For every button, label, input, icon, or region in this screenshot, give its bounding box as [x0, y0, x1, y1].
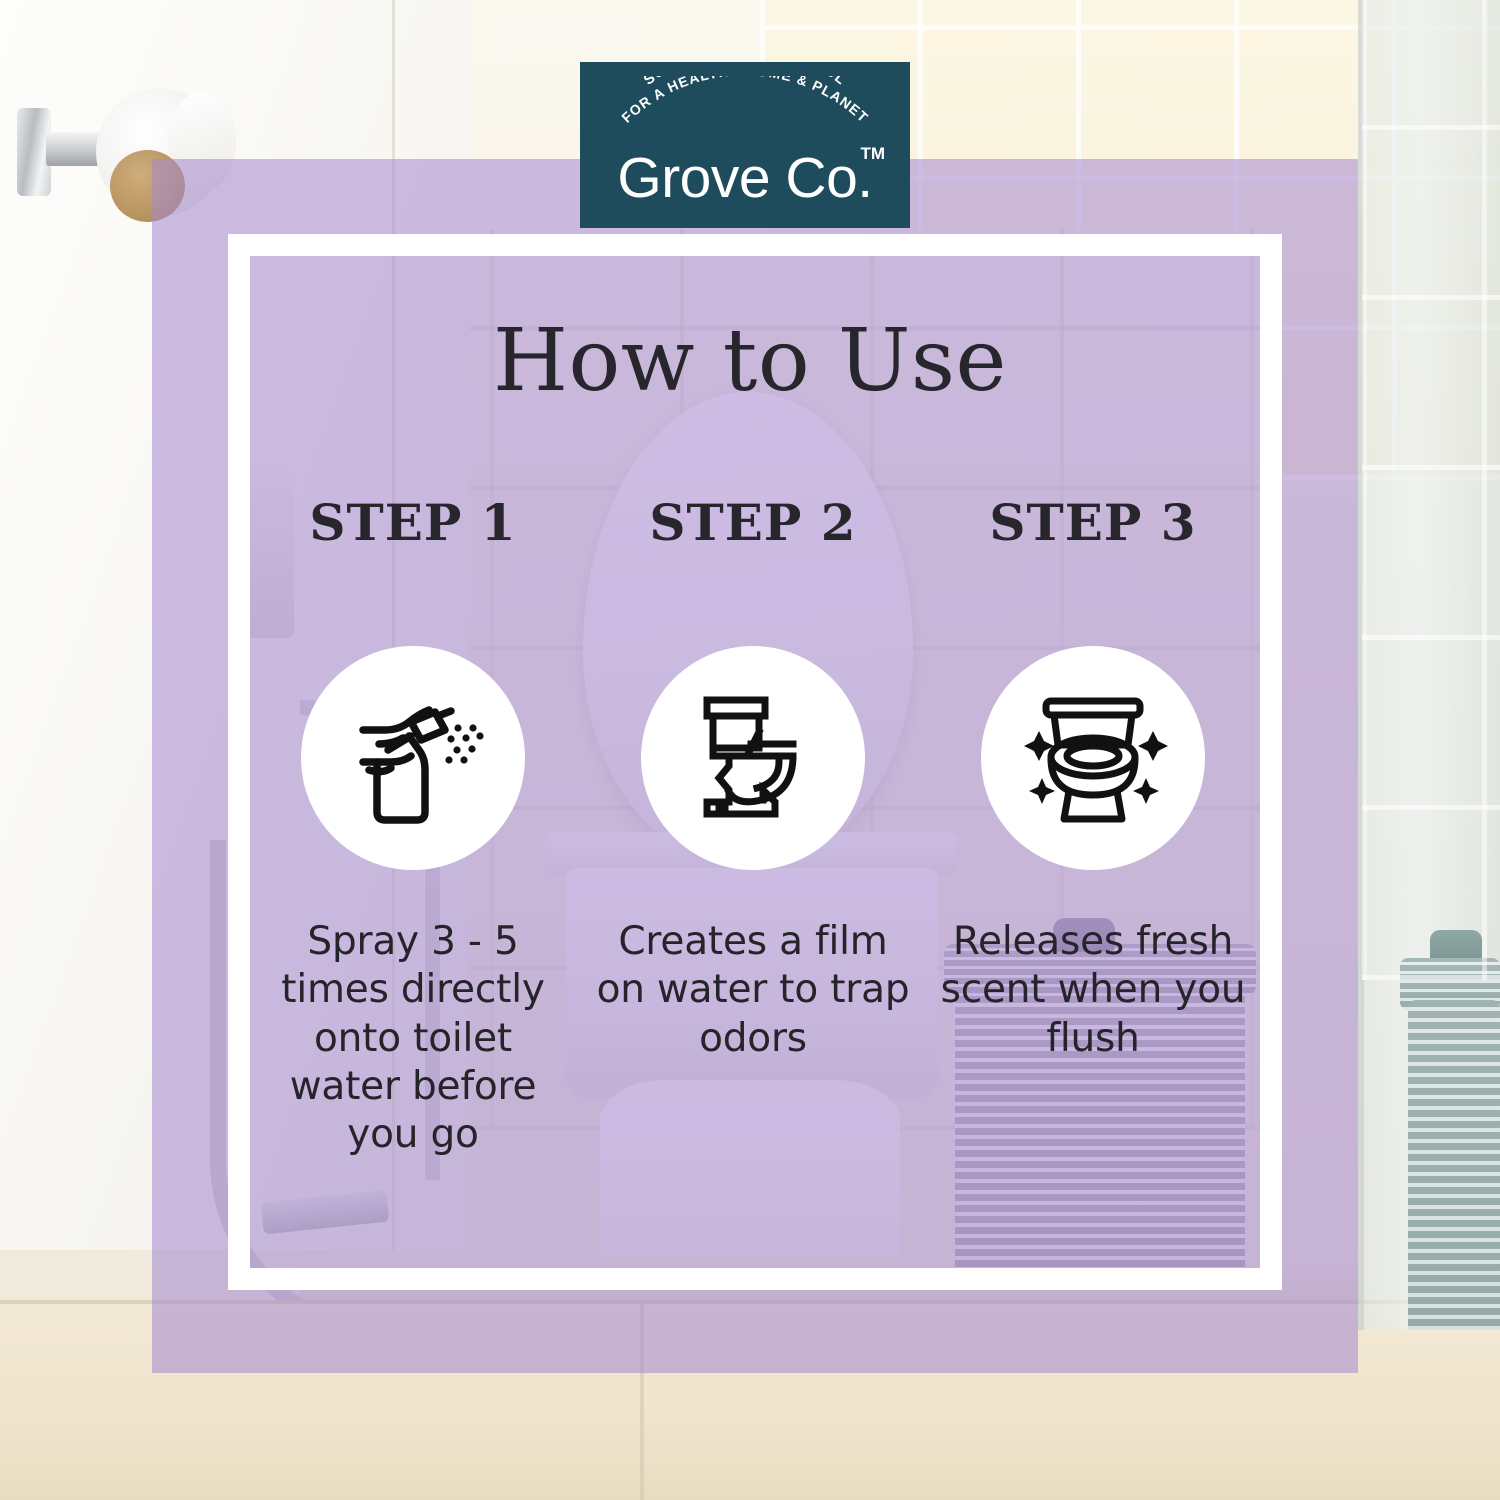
hand-spray-bottle-icon — [333, 678, 493, 838]
brand-tagline-arc: SUSTAINABLY POWERFUL FOR A HEALTHY HOME … — [580, 76, 910, 150]
brand-logo: SUSTAINABLY POWERFUL FOR A HEALTHY HOME … — [580, 62, 910, 228]
product-how-to-use-graphic: SUSTAINABLY POWERFUL FOR A HEALTHY HOME … — [0, 0, 1500, 1500]
step-label-1: STEP 1 — [248, 498, 578, 548]
page-title: How to Use — [0, 318, 1500, 404]
toilet-side-view-icon — [675, 680, 831, 836]
sparkling-toilet-icon — [1014, 679, 1172, 837]
step-caption-2: Creates a film on water to trap odors — [588, 918, 918, 1063]
step-icon-badge-1 — [301, 646, 525, 870]
step-caption-3: Releases fresh scent when you flush — [928, 918, 1258, 1063]
step-caption-1: Spray 3 - 5 times directly onto toilet w… — [248, 918, 578, 1160]
step-item-3: STEP 3 — [928, 498, 1258, 1160]
step-icon-badge-2 — [641, 646, 865, 870]
spray-droplets — [445, 724, 483, 763]
steps-row: STEP 1 — [248, 498, 1258, 1160]
step-label-2: STEP 2 — [588, 498, 918, 548]
step-label-3: STEP 3 — [928, 498, 1258, 548]
step-item-1: STEP 1 — [248, 498, 578, 1160]
step-icon-badge-3 — [981, 646, 1205, 870]
step-item-2: STEP 2 — [588, 498, 918, 1160]
trademark-symbol: TM — [860, 144, 885, 164]
